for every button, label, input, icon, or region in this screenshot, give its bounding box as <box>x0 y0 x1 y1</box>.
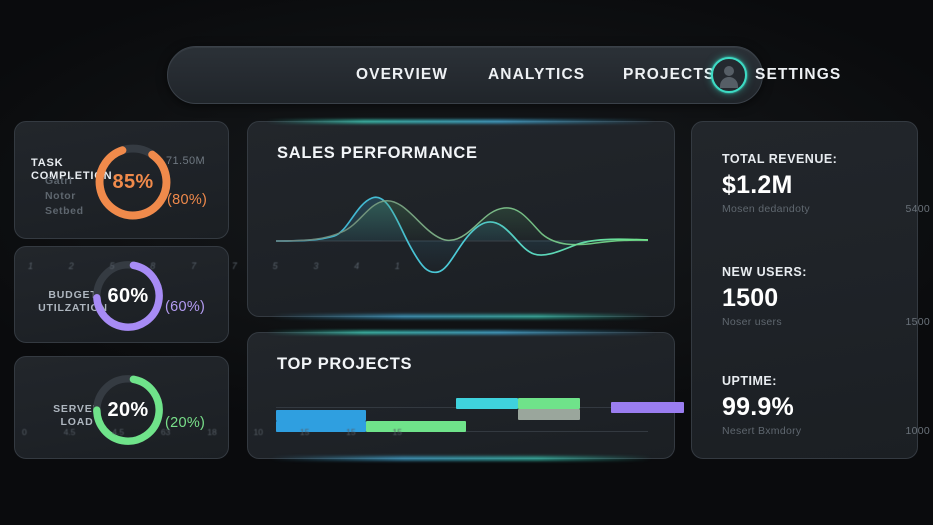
stat-footer: Noser users 1500 <box>722 316 902 330</box>
x-tick: 2 <box>69 261 74 271</box>
stat-subtext: Mosen dedandoty <box>722 203 810 215</box>
task-completion-side-value: (80%) <box>167 192 207 208</box>
bar-project-cyan[interactable] <box>456 398 518 409</box>
x-tick: 1 <box>395 261 400 271</box>
top-projects-chart <box>276 385 648 433</box>
bar-project-purple[interactable] <box>611 402 684 413</box>
nav-item-analytics[interactable]: ANALYTICS <box>488 66 585 84</box>
sales-chart-x-axis: 1 2 5 8 7 7 5 3 4 1 <box>28 261 400 271</box>
x-tick: 7 <box>232 261 237 271</box>
panel-key-stats: TOTAL REVENUE: $1.2M Mosen dedandoty 540… <box>691 121 918 459</box>
stat-total-revenue: TOTAL REVENUE: $1.2M Mosen dedandoty 540… <box>722 152 902 217</box>
stat-number: 5400 <box>905 203 930 215</box>
task-completion-ghost-text: GatrlNotorSetbed <box>45 174 84 219</box>
stat-value: 99.9% <box>722 392 902 422</box>
bar-tick: 15 <box>346 427 355 437</box>
server-load-donut: 20% <box>87 369 169 451</box>
person-glyph-icon <box>718 64 740 86</box>
stat-label: TOTAL REVENUE: <box>722 152 902 166</box>
dashboard-root: OVERVIEW ANALYTICS PROJECTS SETTINGS TAS… <box>0 0 933 525</box>
stat-footer: Mosen dedandoty 5400 <box>722 203 902 217</box>
sales-performance-title: SALES PERFORMANCE <box>277 144 478 163</box>
server-load-value: 20% <box>87 369 169 451</box>
panel-top-projects: TOP PROJECTS <box>247 332 675 459</box>
nav-item-projects[interactable]: PROJECTS <box>623 66 715 84</box>
stat-value: $1.2M <box>722 170 902 200</box>
budget-utilization-side-value: (60%) <box>165 299 205 315</box>
x-tick: 4 <box>354 261 359 271</box>
bar-project-gray[interactable] <box>518 409 580 420</box>
stat-new-users: NEW USERS: 1500 Noser users 1500 <box>722 265 902 330</box>
task-completion-donut: 85% <box>89 138 177 226</box>
stat-label: UPTIME: <box>722 374 902 388</box>
bar-tick: 15 <box>392 427 401 437</box>
top-projects-title: TOP PROJECTS <box>277 355 412 374</box>
stat-uptime: UPTIME: 99.9% Nesert Bxmdory 1000 <box>722 374 902 439</box>
nav-item-settings[interactable]: SETTINGS <box>755 66 841 84</box>
top-projects-x-axis: 0 4.5 4.5 63 18 10 15 15 15 <box>22 427 402 437</box>
bar-tick: 15 <box>300 427 309 437</box>
panel-sales-performance: SALES PERFORMANCE <box>247 121 675 317</box>
bar-tick: 4.5 <box>64 427 76 437</box>
user-avatar-icon[interactable] <box>711 57 747 93</box>
bar-tick: 4.5 <box>112 427 124 437</box>
bar-tick: 63 <box>161 427 170 437</box>
stat-subtext: Nesert Bxmdory <box>722 425 801 437</box>
task-completion-value: 85% <box>89 138 177 226</box>
stat-value: 1500 <box>722 283 902 313</box>
task-completion-corner-value: 71.50M <box>166 155 205 167</box>
card-task-completion: TASK COMPLETION GatrlNotorSetbed 85% (80… <box>14 121 229 239</box>
stat-label: NEW USERS: <box>722 265 902 279</box>
main-navigation: OVERVIEW ANALYTICS PROJECTS SETTINGS <box>167 46 763 104</box>
bar-tick: 0 <box>22 427 27 437</box>
stat-number: 1500 <box>905 316 930 328</box>
nav-item-overview[interactable]: OVERVIEW <box>356 66 448 84</box>
card-server-load: SERVERLOAD 20% (20%) <box>14 356 229 459</box>
x-tick: 3 <box>313 261 318 271</box>
bar-tick: 18 <box>207 427 216 437</box>
x-tick: 5 <box>273 261 278 271</box>
stat-subtext: Noser users <box>722 316 782 328</box>
x-tick: 8 <box>150 261 155 271</box>
stat-footer: Nesert Bxmdory 1000 <box>722 425 902 439</box>
x-tick: 5 <box>110 261 115 271</box>
bar-tick: 10 <box>254 427 263 437</box>
bar-project-blue[interactable] <box>276 410 366 421</box>
x-tick: 7 <box>191 261 196 271</box>
stat-number: 1000 <box>905 425 930 437</box>
bar-project-green-2[interactable] <box>518 398 580 409</box>
x-tick: 1 <box>28 261 33 271</box>
